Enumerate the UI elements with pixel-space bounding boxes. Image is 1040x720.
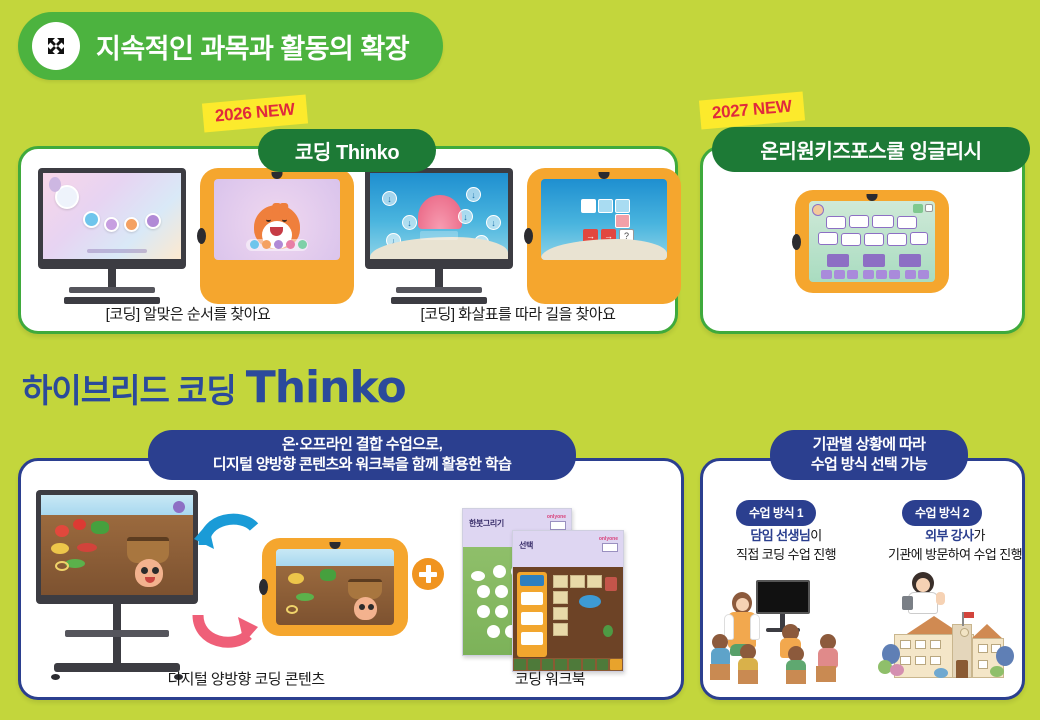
tablet-camera-icon: [867, 194, 878, 201]
method-1-rest: 이: [810, 528, 821, 543]
page-title: 지속적인 과목과 활동의 확장: [96, 27, 409, 66]
tablet-camera-icon: [599, 172, 610, 179]
workbook-caption: 코딩 워크북: [450, 668, 650, 689]
section-title-coding-thinko: 코딩 Thinko: [258, 129, 436, 172]
workbook-1-title: 한붓그리기: [469, 518, 504, 529]
blue-curved-arrow-up-icon: [190, 505, 262, 555]
interactive-display-2: ↓ ↓ ↓ ↓ ↓ ↓ ↓: [365, 168, 513, 304]
method-1-pill: 수업 방식 1: [736, 500, 816, 526]
pink-curved-arrow-down-icon: [190, 605, 262, 655]
workbook-2-title: 선택: [519, 540, 533, 551]
method-1-line2: 직접 코딩 수업 진행: [706, 546, 866, 565]
coding-item-2-caption: [코딩] 화살표를 따라 길을 찾아요: [358, 303, 678, 324]
workbook-1-brand: onlyone: [547, 514, 566, 520]
tablet-side-button: [524, 228, 533, 244]
method-2-rest: 가: [974, 528, 985, 543]
tablet-side-button: [259, 579, 268, 595]
hybrid-banner-line1: 온·오프라인 결합 수업으로,: [282, 435, 442, 455]
learning-tablet-1: [200, 168, 354, 304]
classroom-display-stand: [36, 490, 198, 680]
badge-2027-new: 2027 NEW: [699, 92, 805, 130]
method-2-highlight: 외부 강사: [925, 528, 973, 543]
coding-item-2-media: ↓ ↓ ↓ ↓ ↓ ↓ ↓: [365, 168, 681, 304]
workbook-1-namebox: [550, 521, 566, 530]
digital-content-caption: 디지털 양방향 코딩 콘텐츠: [126, 668, 366, 689]
workbook-page-2: 선택 onlyone: [512, 530, 624, 672]
method-2-description: 외부 강사가 기관에 방문하여 수업 진행: [875, 527, 1035, 565]
methods-banner-line2: 수업 방식 선택 가능: [811, 455, 927, 475]
badge-2026-new: 2026 NEW: [202, 95, 308, 133]
tablet-side-button: [197, 228, 206, 244]
coding-item-1-media: [38, 168, 354, 304]
interactive-display-1: [38, 168, 186, 304]
hybrid-banner-line2: 디지털 양방향 콘텐츠와 워크북을 함께 활용한 학습: [213, 455, 512, 475]
tablet-camera-icon: [272, 172, 283, 179]
methods-banner: 기관별 상황에 따라 수업 방식 선택 가능: [770, 430, 968, 480]
logo-korean-text: 하이브리드 코딩: [22, 364, 236, 412]
tablet-side-button: [792, 234, 801, 250]
method-2-pill: 수업 방식 2: [902, 500, 982, 526]
method-2-line2: 기관에 방문하여 수업 진행: [875, 546, 1035, 565]
plus-circle-icon: [412, 558, 444, 590]
coding-item-1-caption: [코딩] 알맞은 순서를 찾아요: [38, 303, 338, 324]
hybrid-banner: 온·오프라인 결합 수업으로, 디지털 양방향 콘텐츠와 워크북을 함께 활용한…: [148, 430, 576, 480]
workbook-2-namebox: [602, 543, 618, 552]
expand-arrows-icon: [32, 22, 80, 70]
logo-english-text: Thinko: [246, 362, 406, 413]
methods-banner-line1: 기관별 상황에 따라: [813, 435, 926, 455]
english-learning-tablet: [795, 190, 949, 293]
header-banner: 지속적인 과목과 활동의 확장: [18, 12, 443, 80]
tablet-camera-icon: [330, 542, 341, 549]
method-1-description: 담임 선생님이 직접 코딩 수업 진행: [706, 527, 866, 565]
thinko-logo: 하이브리드 코딩 Thinko: [22, 362, 406, 413]
teacher-with-children-illustration: [710, 578, 870, 686]
learning-tablet-2: → → ?: [527, 168, 681, 304]
method-1-highlight: 담임 선생님: [750, 528, 810, 543]
workbook-2-brand: onlyone: [599, 536, 618, 542]
instructor-visiting-school-illustration: [878, 572, 1018, 686]
section-title-english: 온리원키즈포스쿨 잉글리시: [712, 127, 1030, 172]
hybrid-tablet: [262, 538, 408, 636]
